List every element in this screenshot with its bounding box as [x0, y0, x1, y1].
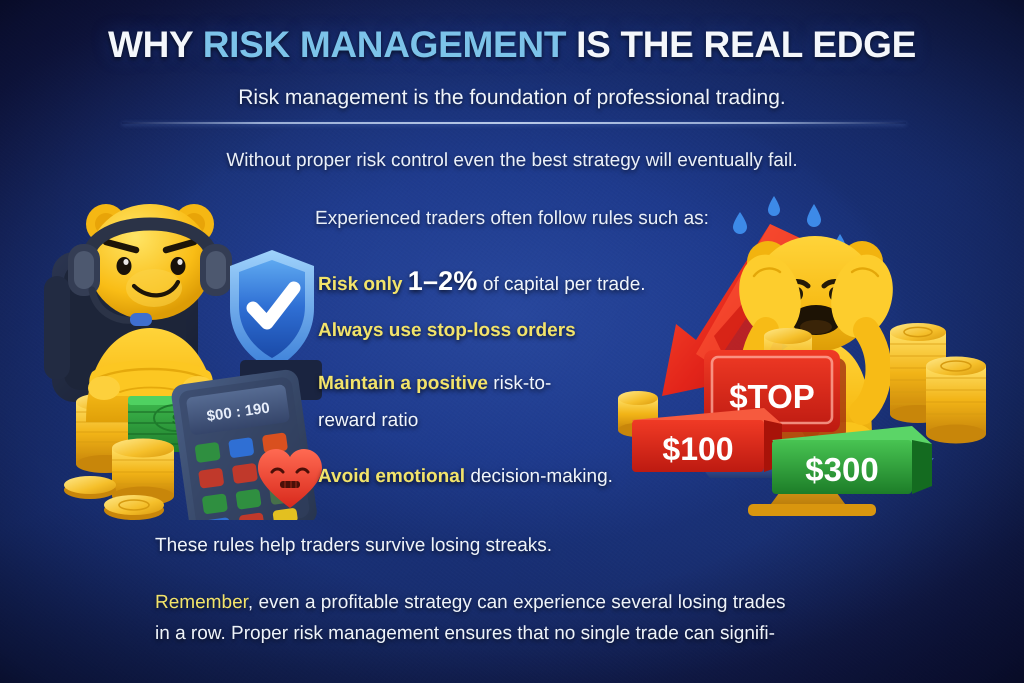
paragraph-line-1: Remember, even a profitable strategy can… — [155, 592, 786, 614]
title-part-2: IS THE REAL EDGE — [566, 24, 916, 65]
header-divider — [122, 122, 906, 124]
page-subtitle: Risk management is the foundation of pro… — [0, 86, 1024, 110]
title-part-1: WHY — [108, 24, 203, 65]
closing-statement: These rules help traders survive losing … — [155, 535, 552, 557]
rule-4-accent: Avoid emotional — [318, 466, 470, 487]
page-title: WHY RISK MANAGEMENT IS THE REAL EDGE — [0, 24, 1024, 66]
rule-2-rest: use stop-loss orders — [389, 320, 576, 341]
rule-3-rest: risk-to- — [493, 373, 551, 394]
infographic-poster: $ — [0, 0, 1024, 683]
text-content-layer: WHY RISK MANAGEMENT IS THE REAL EDGE Ris… — [0, 0, 1024, 683]
rule-item-3-line2: reward ratio — [318, 410, 418, 432]
rules-intro: Experienced traders often follow rules s… — [0, 208, 1024, 230]
paragraph-line-2: in a row. Proper risk management ensures… — [155, 623, 775, 645]
title-highlight: RISK MANAGEMENT — [203, 24, 566, 65]
paragraph-accent: Remember — [155, 592, 248, 613]
rule-1-accent: Risk only — [318, 274, 408, 295]
rule-item-4: Avoid emotional decision-making. — [318, 466, 613, 488]
paragraph-line-1-rest: , even a profitable strategy can experie… — [248, 592, 786, 613]
rule-1-emphasis: 1–2% — [408, 266, 478, 296]
lead-statement: Without proper risk control even the bes… — [0, 150, 1024, 172]
rule-item-3: Maintain a positive risk-to- — [318, 373, 551, 395]
rule-2-accent: Always — [318, 320, 389, 341]
rule-item-1: Risk only 1–2% of capital per trade. — [318, 266, 646, 297]
rule-3-line2: reward ratio — [318, 410, 418, 431]
rule-3-accent: Maintain a positive — [318, 373, 493, 394]
rule-item-2: Always use stop-loss orders — [318, 320, 576, 342]
rule-4-rest: decision-making. — [470, 466, 613, 487]
rule-1-rest: of capital per trade. — [478, 274, 646, 295]
